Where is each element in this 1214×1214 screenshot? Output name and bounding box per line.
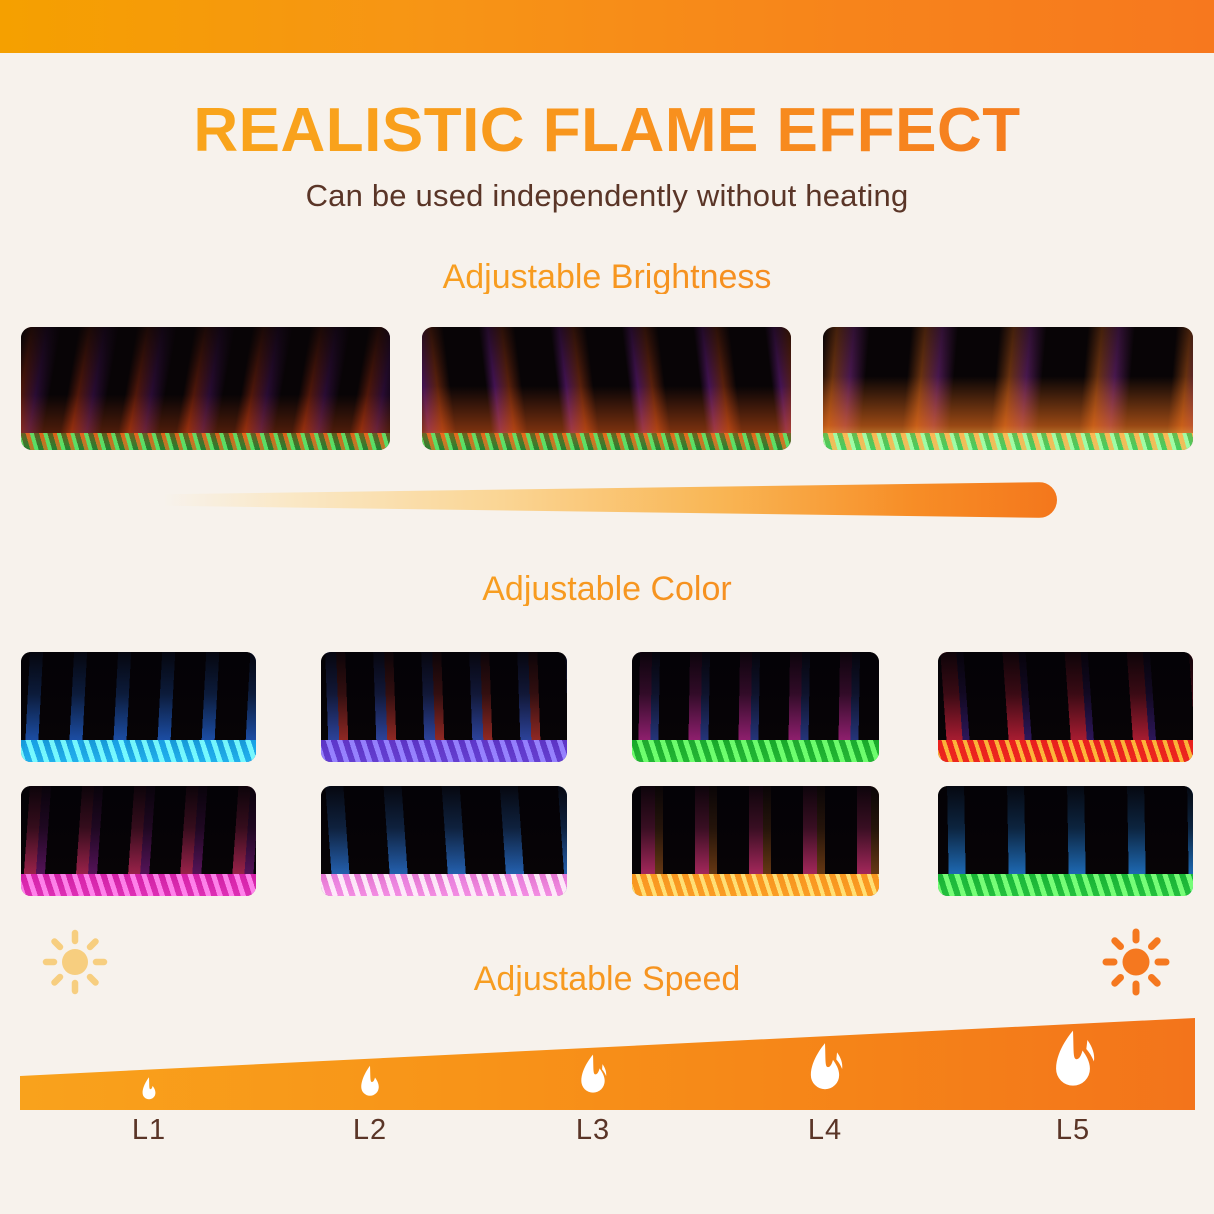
speed-step-l4[interactable]: L4 — [780, 1018, 870, 1168]
flame-icon — [1046, 1027, 1101, 1102]
color-tile-blue-cyan — [21, 652, 256, 762]
color-tile-blue-pink — [321, 786, 567, 896]
crystal-bed — [938, 874, 1193, 896]
brightness-slider[interactable] — [0, 468, 1214, 534]
speed-selector[interactable]: L1 L2 L3 L4 L5 — [0, 1018, 1214, 1168]
flame-icon — [138, 1076, 160, 1106]
section-heading-color: Adjustable Color — [0, 572, 1214, 606]
brightness-panel-high — [823, 327, 1193, 450]
page-title: REALISTIC FLAME EFFECT — [0, 100, 1214, 162]
crystal-bed — [321, 740, 567, 762]
section-heading-speed: Adjustable Speed — [0, 962, 1214, 996]
speed-step-l3[interactable]: L3 — [548, 1018, 638, 1168]
flame-glow — [21, 327, 390, 450]
ember-bed — [21, 433, 390, 450]
crystal-bed — [21, 740, 256, 762]
crystal-bed — [21, 874, 256, 896]
crystal-bed — [632, 874, 879, 896]
color-tile-blue-green — [938, 786, 1193, 896]
flame-glow — [823, 327, 1193, 450]
flame-icon — [574, 1052, 612, 1104]
color-tile-pink-magenta — [21, 786, 256, 896]
flame-glow — [422, 327, 791, 450]
flame-icon — [355, 1064, 385, 1105]
color-tile-blue-red — [321, 652, 567, 762]
ember-bed — [823, 433, 1193, 450]
speed-step-l5[interactable]: L5 — [1028, 1018, 1118, 1168]
crystal-bed — [632, 740, 879, 762]
section-heading-brightness: Adjustable Brightness — [0, 260, 1214, 294]
brightness-panel-low — [21, 327, 390, 450]
speed-step-label: L4 — [780, 1114, 870, 1147]
color-tile-red-orange — [938, 652, 1193, 762]
brightness-slider-track[interactable] — [163, 482, 1057, 518]
color-tile-pink-gold — [632, 786, 879, 896]
speed-step-label: L1 — [104, 1114, 194, 1147]
speed-step-label: L5 — [1028, 1114, 1118, 1147]
speed-step-l1[interactable]: L1 — [104, 1018, 194, 1168]
page-subtitle: Can be used independently without heatin… — [0, 178, 1214, 214]
speed-step-l2[interactable]: L2 — [325, 1018, 415, 1168]
speed-step-label: L2 — [325, 1114, 415, 1147]
ember-bed — [422, 433, 791, 450]
flame-icon — [802, 1040, 848, 1103]
speed-step-label: L3 — [548, 1114, 638, 1147]
top-orange-banner — [0, 0, 1214, 53]
color-tile-magenta-green — [632, 652, 879, 762]
crystal-bed — [938, 740, 1193, 762]
crystal-bed — [321, 874, 567, 896]
brightness-panel-medium — [422, 327, 791, 450]
